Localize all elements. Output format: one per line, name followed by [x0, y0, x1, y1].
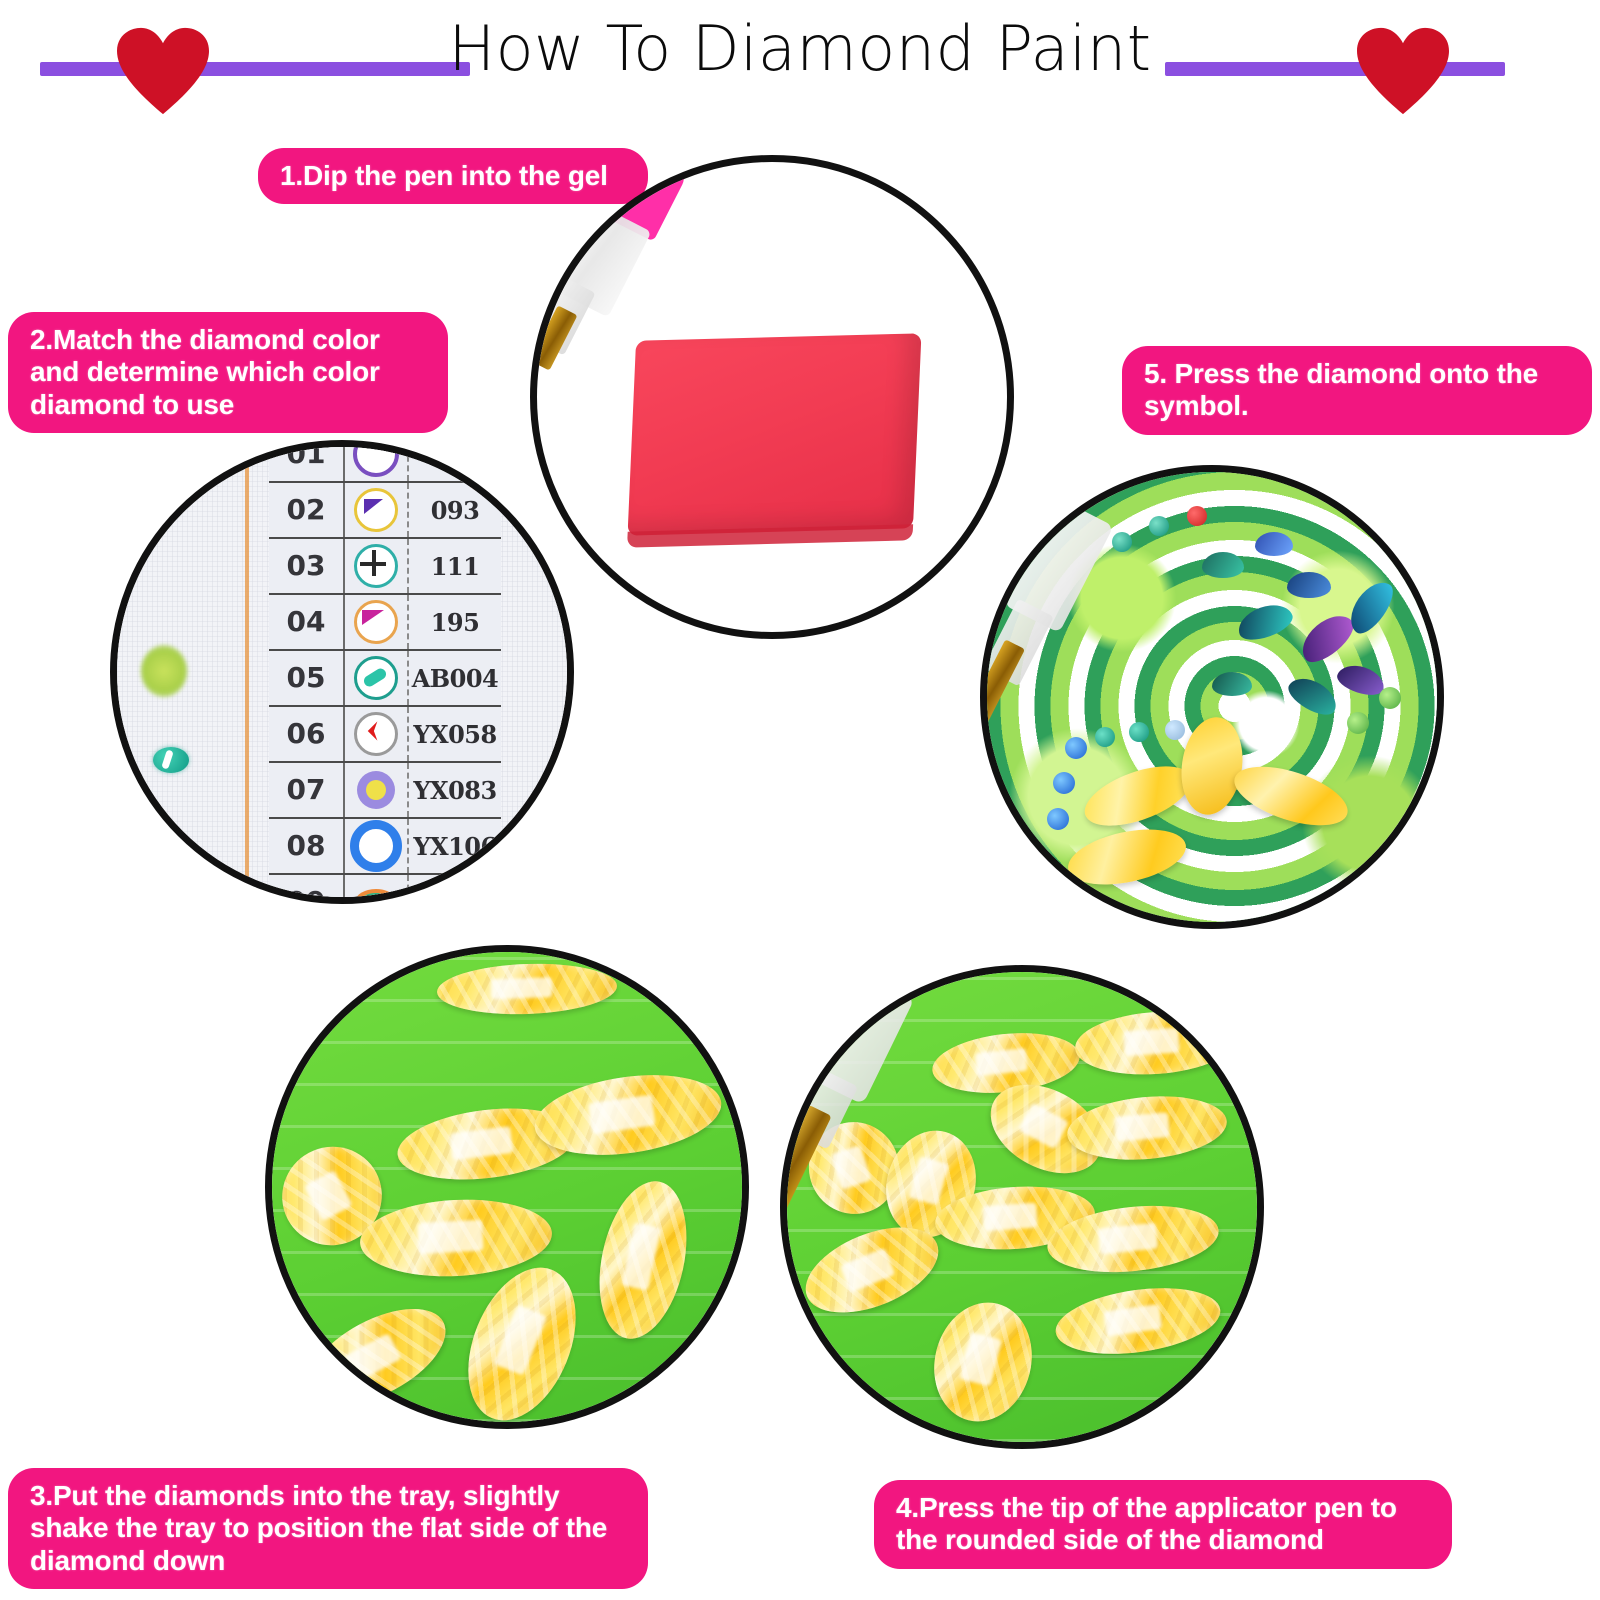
orange-ring-green-leaf-icon	[345, 875, 409, 904]
step-3-label: 3.Put the diamonds into the tray, slight…	[8, 1468, 648, 1589]
step-5-photo-mandala	[980, 465, 1444, 929]
step-1-photo-pen-dipping-into-gel	[530, 155, 1014, 639]
gem	[1287, 572, 1331, 598]
table-row: 01 028	[269, 440, 501, 483]
table-row: 07 YX083	[269, 763, 501, 819]
chart-code: AB004	[409, 664, 501, 693]
chart-code: YX083	[409, 776, 501, 805]
gem	[1255, 532, 1293, 556]
chart-code: YX125	[409, 888, 501, 905]
chart-number: 09	[269, 875, 345, 904]
orange-ring-magenta-triangle-icon	[345, 595, 409, 649]
yellow-ring-purple-triangle-icon	[345, 483, 409, 537]
infographic-page: How To Diamond Paint 1.Dip the pen into …	[0, 0, 1600, 1600]
table-row: 03 111	[269, 539, 501, 595]
gem-dot	[1347, 712, 1369, 734]
page-title: How To Diamond Paint	[0, 18, 1600, 80]
table-row: 05 AB004	[269, 651, 501, 707]
chart-code: YX058	[409, 720, 501, 749]
chart-code: YX106	[409, 832, 501, 861]
teal-gem	[153, 747, 189, 773]
chart-code: 195	[409, 608, 501, 637]
chart-code: 111	[409, 552, 501, 581]
chart-number: 07	[269, 763, 345, 817]
gem-dot	[1053, 772, 1075, 794]
gem-dot	[1379, 687, 1401, 709]
table-row: 09 YX125	[269, 875, 501, 904]
applicator-pen-icon	[530, 155, 694, 366]
chart-number: 08	[269, 819, 345, 873]
gray-ring-red-chevron-icon	[345, 707, 409, 761]
gem-dot	[1095, 727, 1115, 747]
teal-ring-diagonal-bar-icon	[345, 651, 409, 705]
gem-dot	[1129, 722, 1149, 742]
color-code-chart: 01 028 02 093 03	[269, 440, 501, 904]
green-paint-smudge	[141, 645, 187, 697]
chart-number: 06	[269, 707, 345, 761]
gem-dot	[1187, 506, 1207, 526]
chart-number: 04	[269, 595, 345, 649]
gem-dot	[1047, 808, 1069, 830]
chart-code: 093	[409, 496, 501, 525]
table-row: 04 195	[269, 595, 501, 651]
canvas-guide-line	[245, 447, 249, 897]
gem	[1212, 672, 1252, 696]
header: How To Diamond Paint	[0, 0, 1600, 130]
step-4-label: 4.Press the tip of the applicator pen to…	[874, 1480, 1452, 1569]
table-row: 02 093	[269, 483, 501, 539]
teal-ring-plus-icon	[345, 539, 409, 593]
chart-number: 02	[269, 483, 345, 537]
step-3-photo-diamonds-in-tray	[265, 945, 749, 1429]
gem-dot	[1149, 516, 1169, 536]
step-2-photo-color-chart: 01 028 02 093 03	[110, 440, 574, 904]
step-4-photo-pen-pressing-diamond	[780, 965, 1264, 1449]
step-5-label: 5. Press the diamond onto the symbol.	[1122, 346, 1592, 435]
table-row: 06 YX058	[269, 707, 501, 763]
table-row: 08 YX106	[269, 819, 501, 875]
chart-number: 05	[269, 651, 345, 705]
chart-number: 01	[269, 440, 345, 481]
gel-pad	[628, 333, 922, 535]
gem	[1202, 552, 1244, 578]
step-2-label: 2.Match the diamond color and determine …	[8, 312, 448, 433]
gem-dot	[1165, 720, 1185, 740]
gem-dot	[1065, 737, 1087, 759]
blue-donut-ring-icon	[345, 819, 409, 873]
purple-circle-two-dots-icon	[345, 440, 409, 481]
purple-ring-yellow-center-icon	[345, 763, 409, 817]
chart-number: 03	[269, 539, 345, 593]
chart-code: 028	[409, 440, 501, 469]
